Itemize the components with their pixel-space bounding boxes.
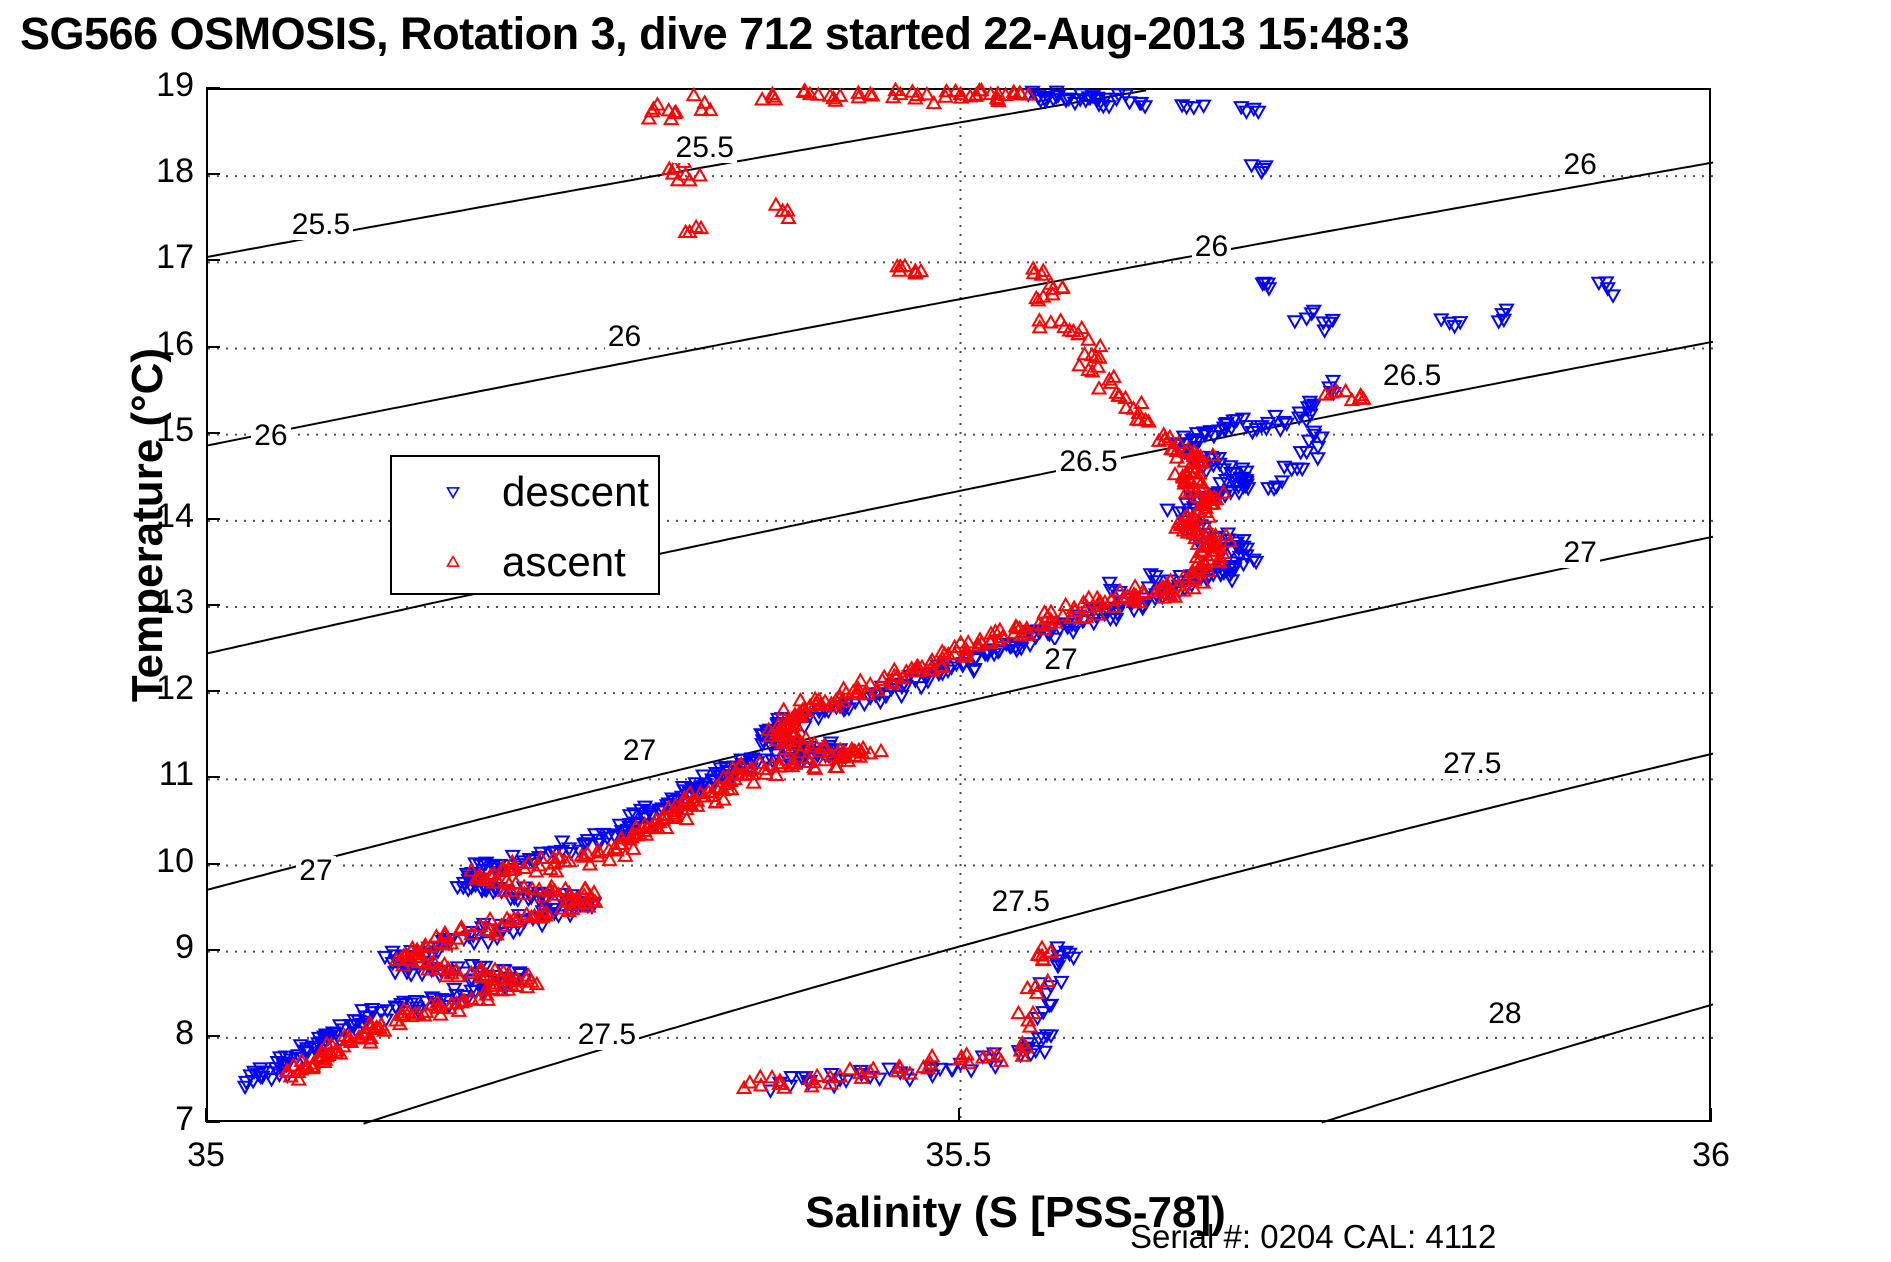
plot-area	[206, 88, 1711, 1122]
legend[interactable]: descentascent	[390, 455, 660, 595]
legend-item-ascent[interactable]: ascent	[392, 527, 658, 597]
x-tick-label: 36	[1631, 1136, 1791, 1175]
x-axis-label: Salinity (S [PSS-78])	[0, 1188, 1891, 1238]
y-tick-mark	[206, 259, 220, 261]
legend-label: descent	[502, 468, 649, 516]
y-tick-mark	[206, 432, 220, 434]
y-tick-mark	[206, 518, 220, 520]
contour-label: 27	[296, 856, 335, 886]
contour-label: 26	[1561, 150, 1600, 180]
y-tick-label: 8	[114, 1014, 194, 1053]
y-tick-mark	[206, 690, 220, 692]
y-tick-label: 13	[114, 583, 194, 622]
y-tick-mark	[206, 1121, 220, 1123]
contour-label: 26	[1192, 232, 1231, 262]
contour-label: 27	[1561, 538, 1600, 568]
y-tick-mark	[206, 604, 220, 606]
ts-diagram: Temperature (°C) 78910111213141516171819…	[0, 0, 1891, 1262]
y-tick-label: 19	[114, 66, 194, 105]
y-tick-mark	[206, 173, 220, 175]
plot-svg-layer	[208, 90, 1713, 1124]
y-tick-mark	[206, 87, 220, 89]
y-tick-label: 10	[114, 842, 194, 881]
contour-label: 27	[620, 736, 659, 766]
contour-label: 26.5	[1056, 447, 1120, 477]
triangle-up-icon	[446, 555, 460, 569]
x-tick-mark	[958, 1108, 960, 1122]
x-tick-mark	[1710, 1108, 1712, 1122]
contour-label: 26.5	[1380, 361, 1444, 391]
x-tick-mark	[205, 1108, 207, 1122]
contour-label: 27.5	[989, 887, 1053, 917]
contour-label: 25.5	[673, 133, 737, 163]
contour-label: 28	[1485, 999, 1524, 1029]
y-tick-mark	[206, 863, 220, 865]
x-tick-label: 35	[126, 1136, 286, 1175]
legend-item-descent[interactable]: descent	[392, 457, 658, 527]
y-tick-label: 7	[114, 1100, 194, 1139]
y-tick-label: 11	[114, 755, 194, 794]
triangle-down-icon	[446, 485, 460, 499]
y-tick-mark	[206, 346, 220, 348]
contour-label: 27.5	[575, 1020, 639, 1050]
y-tick-mark	[206, 776, 220, 778]
y-tick-label: 17	[114, 238, 194, 277]
y-tick-label: 14	[114, 497, 194, 536]
contour-label: 27	[1041, 645, 1080, 675]
contour-label: 26	[251, 421, 290, 451]
y-tick-mark	[206, 1035, 220, 1037]
y-tick-label: 16	[114, 325, 194, 364]
y-tick-label: 15	[114, 411, 194, 450]
contour-label: 26	[605, 322, 644, 352]
y-tick-label: 12	[114, 669, 194, 708]
y-tick-label: 9	[114, 928, 194, 967]
y-tick-mark	[206, 949, 220, 951]
x-tick-label: 35.5	[879, 1136, 1039, 1175]
serial-cal-text: Serial #: 0204 CAL: 4112	[1130, 1218, 1496, 1256]
contour-label: 27.5	[1440, 749, 1504, 779]
contour-label: 25.5	[289, 210, 353, 240]
y-tick-label: 18	[114, 152, 194, 191]
legend-label: ascent	[502, 538, 626, 586]
